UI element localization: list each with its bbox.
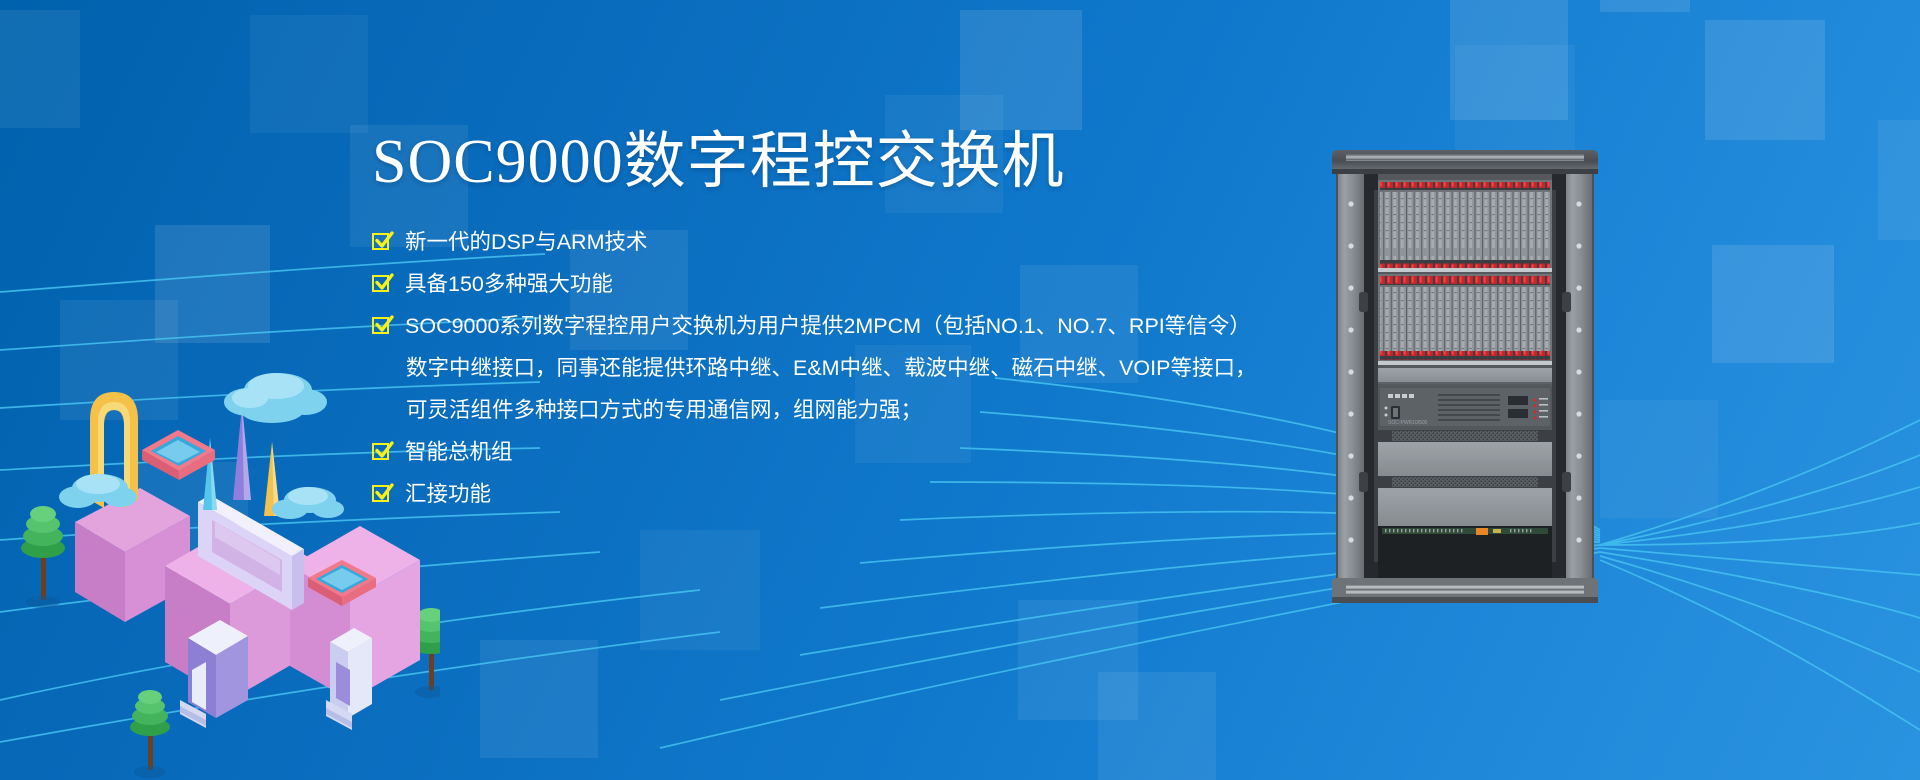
list-item-label: 智能总机组 [405,438,513,467]
list-item-continuation: 可灵活组件多种接口方式的专用通信网，组网能力强； [372,396,1372,425]
list-item-label: 可灵活组件多种接口方式的专用通信网，组网能力强； [406,396,922,425]
check-box-icon [372,233,389,250]
svg-text:SOC-PWR10/500: SOC-PWR10/500 [1388,420,1428,426]
cloud-icon [224,373,327,423]
list-item: 汇接功能 [372,480,1372,509]
list-item-continuation: 数字中继接口，同事还能提供环路中继、E&M中继、载波中继、磁石中继、VOIP等接… [372,354,1372,383]
cloud-icon [272,487,344,519]
list-item-label: SOC9000系列数字程控用户交换机为用户提供2MPCM（包括NO.1、NO.7… [405,312,1251,341]
list-item: 具备150多种强大功能 [372,270,1372,299]
page-title: SOC9000数字程控交换机 [372,128,1372,196]
product-banner: SOC-PWR10/500 [0,0,1920,780]
list-item-label: 具备150多种强大功能 [405,270,613,299]
list-item: 新一代的DSP与ARM技术 [372,228,1372,257]
check-box-icon [372,443,389,460]
list-item-label: 汇接功能 [405,480,491,509]
list-item-label: 数字中继接口，同事还能提供环路中继、E&M中继、载波中继、磁石中继、VOIP等接… [406,354,1256,383]
list-item: 智能总机组 [372,438,1372,467]
check-box-icon [372,317,389,334]
check-box-icon [372,275,389,292]
check-box-icon [372,485,389,502]
list-item-label: 新一代的DSP与ARM技术 [405,228,648,257]
banner-content: SOC9000数字程控交换机 新一代的DSP与ARM技术 具备150多种强大功能… [372,128,1372,522]
feature-list: 新一代的DSP与ARM技术 具备150多种强大功能 SOC9000系列数字程控用… [372,228,1372,509]
list-item: SOC9000系列数字程控用户交换机为用户提供2MPCM（包括NO.1、NO.7… [372,312,1372,341]
